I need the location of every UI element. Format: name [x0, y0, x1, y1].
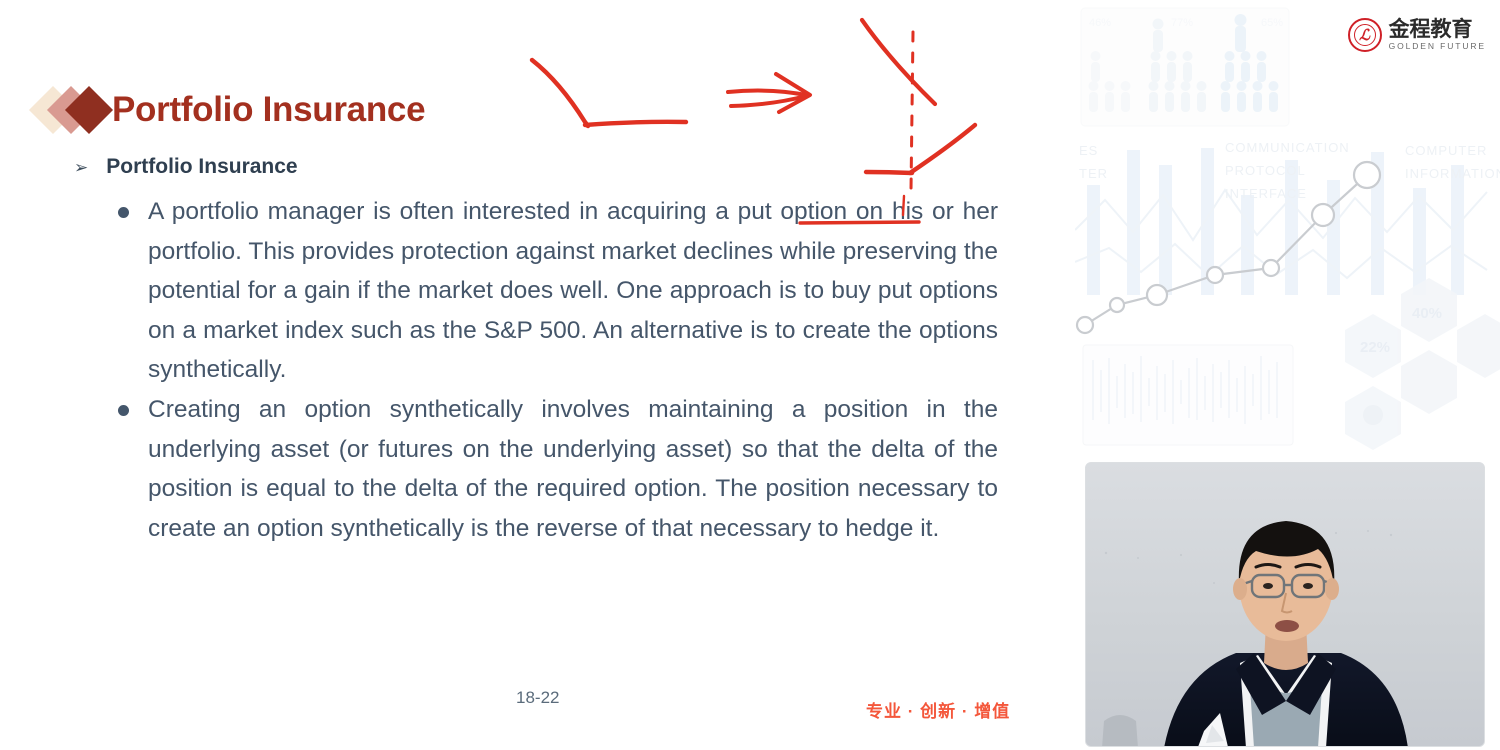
- right-panel: 46%77%65%: [1075, 0, 1500, 750]
- diamond-decoration-icon: [34, 84, 112, 136]
- section-heading-label: Portfolio Insurance: [106, 155, 297, 179]
- page-title: Portfolio Insurance: [112, 90, 425, 130]
- seal-monogram: ℒ: [1354, 24, 1376, 46]
- svg-text:ES: ES: [1079, 143, 1098, 158]
- background-infographic: 46%77%65%: [1075, 0, 1500, 455]
- bullet-paragraph: Creating an option synthetically involve…: [148, 390, 998, 548]
- bullet-dot-icon: [118, 405, 129, 416]
- bullet-text-before: A portfolio manager is often interested …: [148, 198, 738, 225]
- svg-text:40%: 40%: [1412, 305, 1442, 322]
- svg-text:TER: TER: [1079, 166, 1108, 181]
- presentation-screen: Portfolio Insurance ➢ Portfolio Insuranc…: [0, 0, 1500, 750]
- annotated-phrase: put option: [738, 198, 848, 225]
- svg-text:46%: 46%: [1089, 17, 1111, 29]
- synthetic-option-sketch-icon: [862, 20, 935, 104]
- list-item: Creating an option synthetically involve…: [118, 390, 998, 548]
- svg-text:PROTOCOL: PROTOCOL: [1225, 163, 1306, 178]
- svg-text:65%: 65%: [1261, 17, 1283, 29]
- arrow-bullet-icon: ➢: [74, 159, 88, 176]
- logo-wordmark: 金程教育 GOLDEN FUTURE: [1389, 19, 1486, 52]
- section-heading: ➢ Portfolio Insurance: [74, 155, 298, 179]
- svg-text:77%: 77%: [1171, 17, 1193, 29]
- video-frame: [1086, 463, 1485, 747]
- svg-text:INTERFACE: INTERFACE: [1225, 186, 1307, 201]
- seal-icon: ℒ: [1348, 18, 1382, 52]
- brand-logo: ℒ 金程教育 GOLDEN FUTURE: [1348, 18, 1486, 52]
- put-payoff-sketch-icon: [532, 60, 588, 126]
- list-item: A portfolio manager is often interested …: [118, 192, 998, 390]
- svg-text:22%: 22%: [1360, 339, 1390, 356]
- slide-title-row: Portfolio Insurance: [34, 84, 425, 136]
- svg-text:INFORMATION: INFORMATION: [1405, 166, 1500, 181]
- arrow-annotation-icon: [728, 91, 806, 95]
- bullet-dot-icon: [118, 207, 129, 218]
- page-number: 18-22: [516, 688, 559, 708]
- bullet-paragraph: A portfolio manager is often interested …: [148, 192, 998, 390]
- slide-area: Portfolio Insurance ➢ Portfolio Insuranc…: [0, 0, 1075, 750]
- logo-brand-en: GOLDEN FUTURE: [1389, 41, 1486, 52]
- svg-text:COMPUTER: COMPUTER: [1405, 143, 1487, 158]
- bullet-text-after: on his or her portfolio. This provides p…: [148, 198, 998, 383]
- brand-slogan: 专业 · 创新 · 增值: [866, 697, 1010, 722]
- instructor-video-feed[interactable]: [1085, 462, 1485, 747]
- logo-brand-cn: 金程教育: [1389, 19, 1486, 41]
- svg-text:COMMUNICATION: COMMUNICATION: [1225, 140, 1350, 155]
